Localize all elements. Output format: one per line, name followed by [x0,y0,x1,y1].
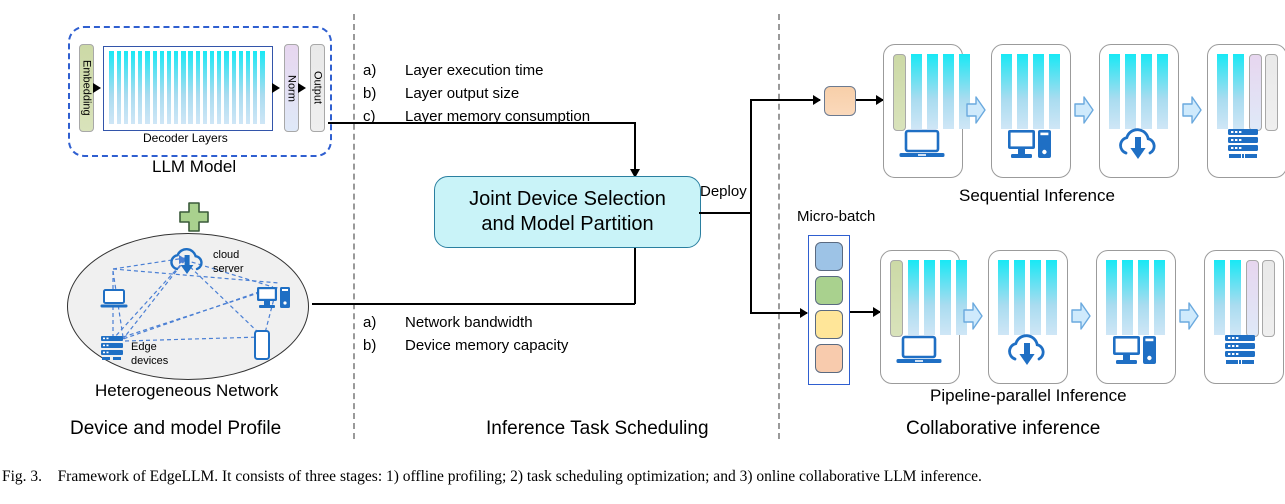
input-token [824,86,856,116]
decoder-bar [131,51,135,124]
device-layer-bar [1122,260,1133,335]
microbatch-cell [815,310,843,339]
device-layer-bar [940,260,951,335]
decoder-bar [160,51,164,124]
laptop-icon [100,288,128,315]
device-layer-bar [1230,260,1241,335]
desktop-icon [1112,334,1158,373]
arrow-model-metrics-to-scheduler [634,122,636,170]
model-metric-0-key: a) [363,62,376,79]
embedding-label: Embedding [80,45,93,131]
network-metric-0-key: a) [363,314,376,331]
arrow-deploy-to-pipeline [750,312,807,314]
decoder-bar [253,51,257,124]
device-layer-bar [1033,54,1044,129]
decoder-bar [153,51,157,124]
microbatch-label: Micro-batch [797,208,875,225]
decoder-bar [124,51,128,124]
device-layer-bar [1233,54,1244,129]
flow-chevron-icon [1178,301,1200,336]
flow-chevron-icon [1070,301,1092,336]
device-layer-bar [1138,260,1149,335]
arrow-norm-to-output [298,83,306,93]
device-output-slab [1262,260,1275,337]
cloud-server-label-line1: cloud [213,249,239,261]
arrow-embedding-to-decoder [93,83,101,93]
norm-slab: Norm [284,44,299,132]
arrow-decoder-to-norm [272,83,280,93]
decoder-bar [239,51,243,124]
decoder-bar [174,51,178,124]
device-layer-bar [998,260,1009,335]
device-layer-bar [1014,260,1025,335]
flow-chevron-icon [1073,95,1095,130]
decoder-bar [232,51,236,124]
scheduler-line2: and Model Partition [481,213,653,235]
cloud-icon [1004,334,1050,373]
device-norm-slab [1246,260,1259,337]
microbatch-cell [815,276,843,305]
embedding-slab: Embedding [79,44,94,132]
decoder-bar [109,51,113,124]
stage-divider-left [353,14,355,439]
device-layer-bar [1217,54,1228,129]
cloud-icon [1115,128,1161,167]
device-layer-bar [1106,260,1117,335]
desktop-icon [1007,128,1053,167]
flow-chevron-icon [962,301,984,336]
stage-title-profile: Device and model Profile [70,418,281,440]
device-layer-bar [908,260,919,335]
microbatch-cell [815,344,843,373]
deploy-trunk-vertical [750,99,752,314]
microbatch-cell [815,242,843,271]
decoder-bar [167,51,171,124]
norm-label: Norm [285,45,298,131]
decoder-bar [188,51,192,124]
model-metric-0-text: Layer execution time [405,62,543,79]
decoder-bar [196,51,200,124]
output-slab: Output [310,44,325,132]
deploy-label: Deploy [700,183,747,200]
arrow-token-to-device [856,99,883,101]
cloud-server-label-line2: server [213,263,244,275]
decoder-bar [145,51,149,124]
edge-devices-label-line2: devices [131,355,168,367]
server-icon [1220,334,1266,373]
network-metric-1-text: Device memory capacity [405,337,568,354]
device-layer-bar [1017,54,1028,129]
decoder-bar [217,51,221,124]
decoder-bar [224,51,228,124]
device-layer-bar [1157,54,1168,129]
arrow-deploy-to-sequential [750,99,820,101]
network-metric-1-key: b) [363,337,376,354]
laptop-icon [896,334,942,371]
pipeline-inference-title: Pipeline-parallel Inference [930,386,1127,406]
phone-icon [254,330,270,365]
network-metric-0-text: Network bandwidth [405,314,533,331]
decoder-bar [117,51,121,124]
caption-prefix: Fig. 3. [2,468,42,485]
device-embedding-slab [890,260,903,337]
decoder-bar [246,51,250,124]
device-layer-bar [911,54,922,129]
decoder-bar [181,51,185,124]
figure-canvas: Embedding Decoder Layers Norm Output LLM… [0,0,1285,504]
device-layer-bar [924,260,935,335]
model-metric-2-text: Layer memory consumption [405,108,590,125]
model-metric-1-key: b) [363,85,376,102]
server-icon [1223,128,1269,167]
device-layer-bar [927,54,938,129]
device-norm-slab [1249,54,1262,131]
device-layer-bar [943,54,954,129]
device-layer-bar [1046,260,1057,335]
device-layer-bar [1154,260,1165,335]
device-layer-bar [1049,54,1060,129]
server-icon [100,335,130,366]
device-layer-bar [1109,54,1120,129]
flow-chevron-icon [965,95,987,130]
scheduler-box[interactable]: Joint Device Selection and Model Partiti… [434,176,701,248]
stage-title-collab: Collaborative inference [906,418,1100,440]
decoder-bar [260,51,264,124]
flow-chevron-icon [1181,95,1203,130]
edge-devices-label-line1: Edge [131,341,157,353]
figure-caption: Fig. 3. Framework of EdgeLLM. It consist… [2,468,1283,486]
decoder-bar [138,51,142,124]
output-label: Output [311,45,324,131]
cloud-icon [168,247,206,282]
decoder-bars [103,46,271,129]
sequential-inference-title: Sequential Inference [959,186,1115,206]
device-layer-bar [1030,260,1041,335]
laptop-icon [899,128,945,165]
llm-model-title: LLM Model [152,157,236,177]
model-metric-2-key: c) [363,108,376,125]
stage-title-scheduling: Inference Task Scheduling [486,418,709,440]
caption-text: Framework of EdgeLLM. It consists of thr… [58,468,982,485]
device-layer-bar [1214,260,1225,335]
deploy-line-horizontal [699,212,751,214]
network-title: Heterogeneous Network [95,381,278,401]
model-metric-1-text: Layer output size [405,85,519,102]
decoder-layers-label: Decoder Layers [143,131,228,145]
device-layer-bar [1001,54,1012,129]
network-to-metrics-line [312,303,635,305]
decoder-bar [210,51,214,124]
decoder-bar [203,51,207,124]
desktop-icon [256,285,292,316]
device-embedding-slab [893,54,906,131]
stage-divider-right [778,14,780,439]
arrow-microbatch-to-device [850,311,880,313]
device-output-slab [1265,54,1278,131]
arrow-network-metrics-to-scheduler [634,246,636,304]
scheduler-line1: Joint Device Selection [469,188,666,210]
device-layer-bar [1141,54,1152,129]
device-layer-bar [1125,54,1136,129]
